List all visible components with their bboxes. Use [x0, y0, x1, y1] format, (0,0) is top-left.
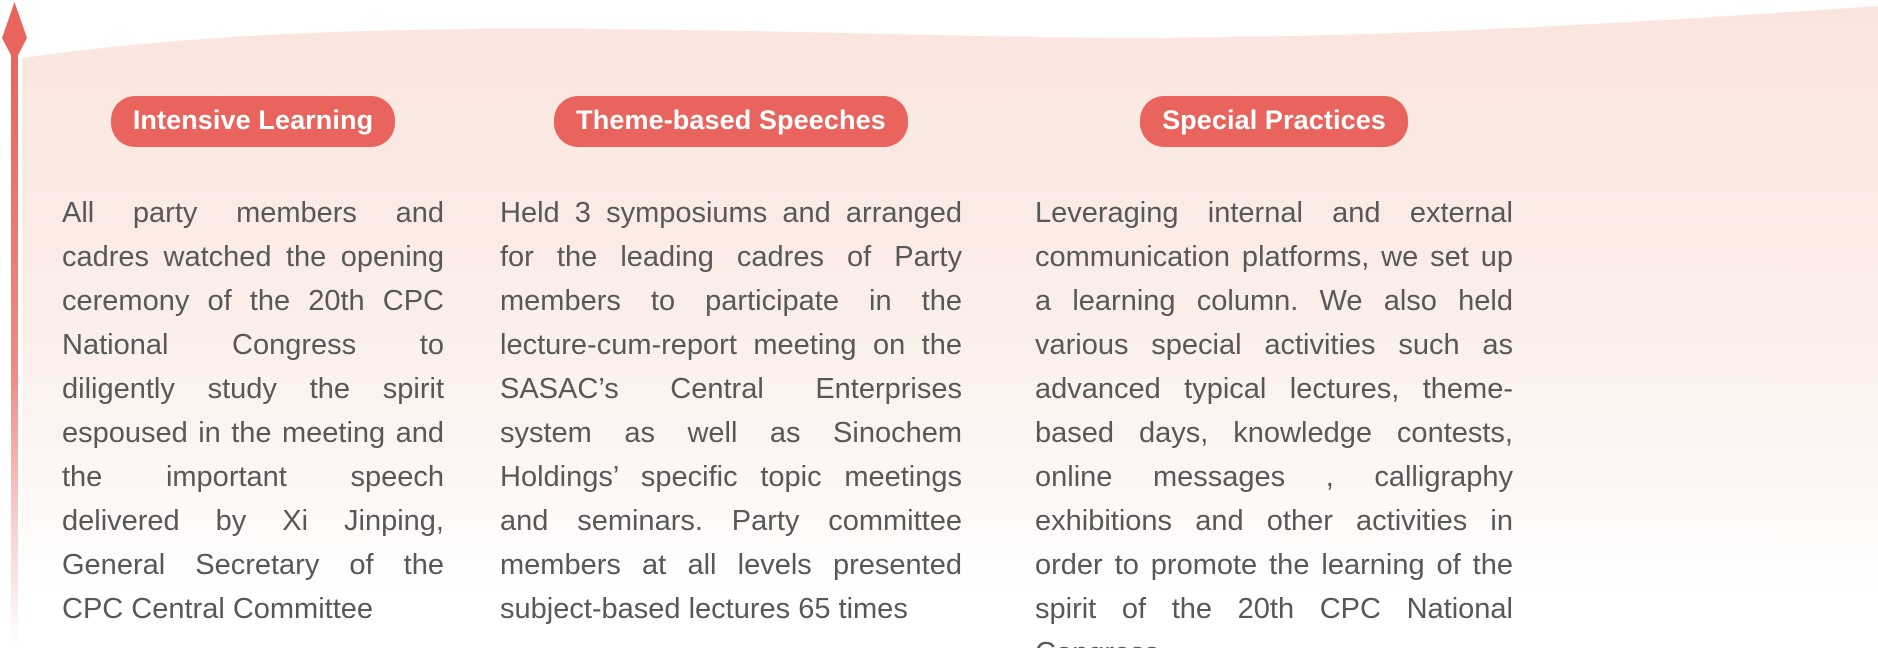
column-intensive-learning: Intensive Learning All party members and… [62, 96, 444, 631]
badge-row: Theme-based Speeches [500, 96, 962, 147]
columns-container: Intensive Learning All party members and… [0, 0, 1878, 648]
badge-row: Special Practices [1035, 96, 1513, 147]
column-special-practices: Special Practices Leveraging internal an… [1035, 96, 1513, 648]
body-text-intensive-learning: All party members and cadres watched the… [62, 191, 444, 631]
body-text-special-practices: Leveraging internal and external communi… [1035, 191, 1513, 648]
badge-theme-based-speeches[interactable]: Theme-based Speeches [554, 96, 908, 147]
badge-row: Intensive Learning [62, 96, 444, 147]
infographic-panel: Intensive Learning All party members and… [0, 0, 1878, 648]
body-text-theme-based-speeches: Held 3 symposiums and arranged for the l… [500, 191, 962, 631]
badge-special-practices[interactable]: Special Practices [1140, 96, 1408, 147]
badge-intensive-learning[interactable]: Intensive Learning [111, 96, 395, 147]
column-theme-based-speeches: Theme-based Speeches Held 3 symposiums a… [500, 96, 962, 631]
